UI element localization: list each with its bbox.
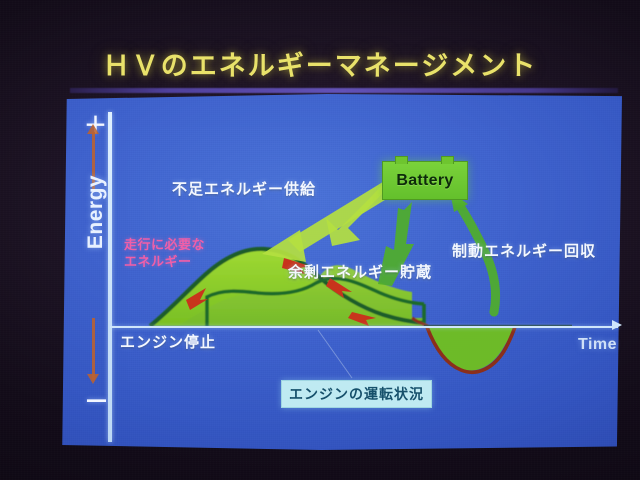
y-axis-label: Energy [84, 157, 108, 267]
label-required-energy-line1: 走行に必要な [124, 236, 205, 253]
y-axis-minus-sign: － [84, 382, 109, 418]
label-required-energy-line2: エネルギー [124, 253, 205, 270]
battery-label: Battery [396, 172, 453, 190]
battery-terminal-right-icon [441, 156, 454, 164]
label-regen-recovery: 制動エネルギー回収 [452, 240, 596, 261]
label-surplus-storage: 余剰エネルギー貯蔵 [288, 261, 432, 282]
engine-operation-caption-text: エンジンの運転状況 [289, 384, 424, 404]
negative-direction-arrow-icon [87, 374, 99, 384]
slide-photo: ＨＶのエネルギーマネージメント [0, 0, 640, 480]
x-axis-line [110, 326, 618, 328]
x-axis-arrowhead [612, 320, 622, 330]
y-axis-plus-sign: ＋ [84, 106, 107, 140]
label-engine-stop: エンジン停止 [120, 331, 216, 352]
battery-terminal-left-icon [395, 156, 408, 164]
label-required-energy: 走行に必要な エネルギー [124, 236, 205, 270]
label-shortage-supply: 不足エネルギー供給 [172, 178, 316, 199]
x-axis-label: Time [578, 336, 617, 354]
battery-box: Battery [382, 161, 468, 200]
engine-operation-caption-box: エンジンの運転状況 [281, 380, 432, 408]
negative-direction-arrow-shaft [92, 318, 95, 380]
